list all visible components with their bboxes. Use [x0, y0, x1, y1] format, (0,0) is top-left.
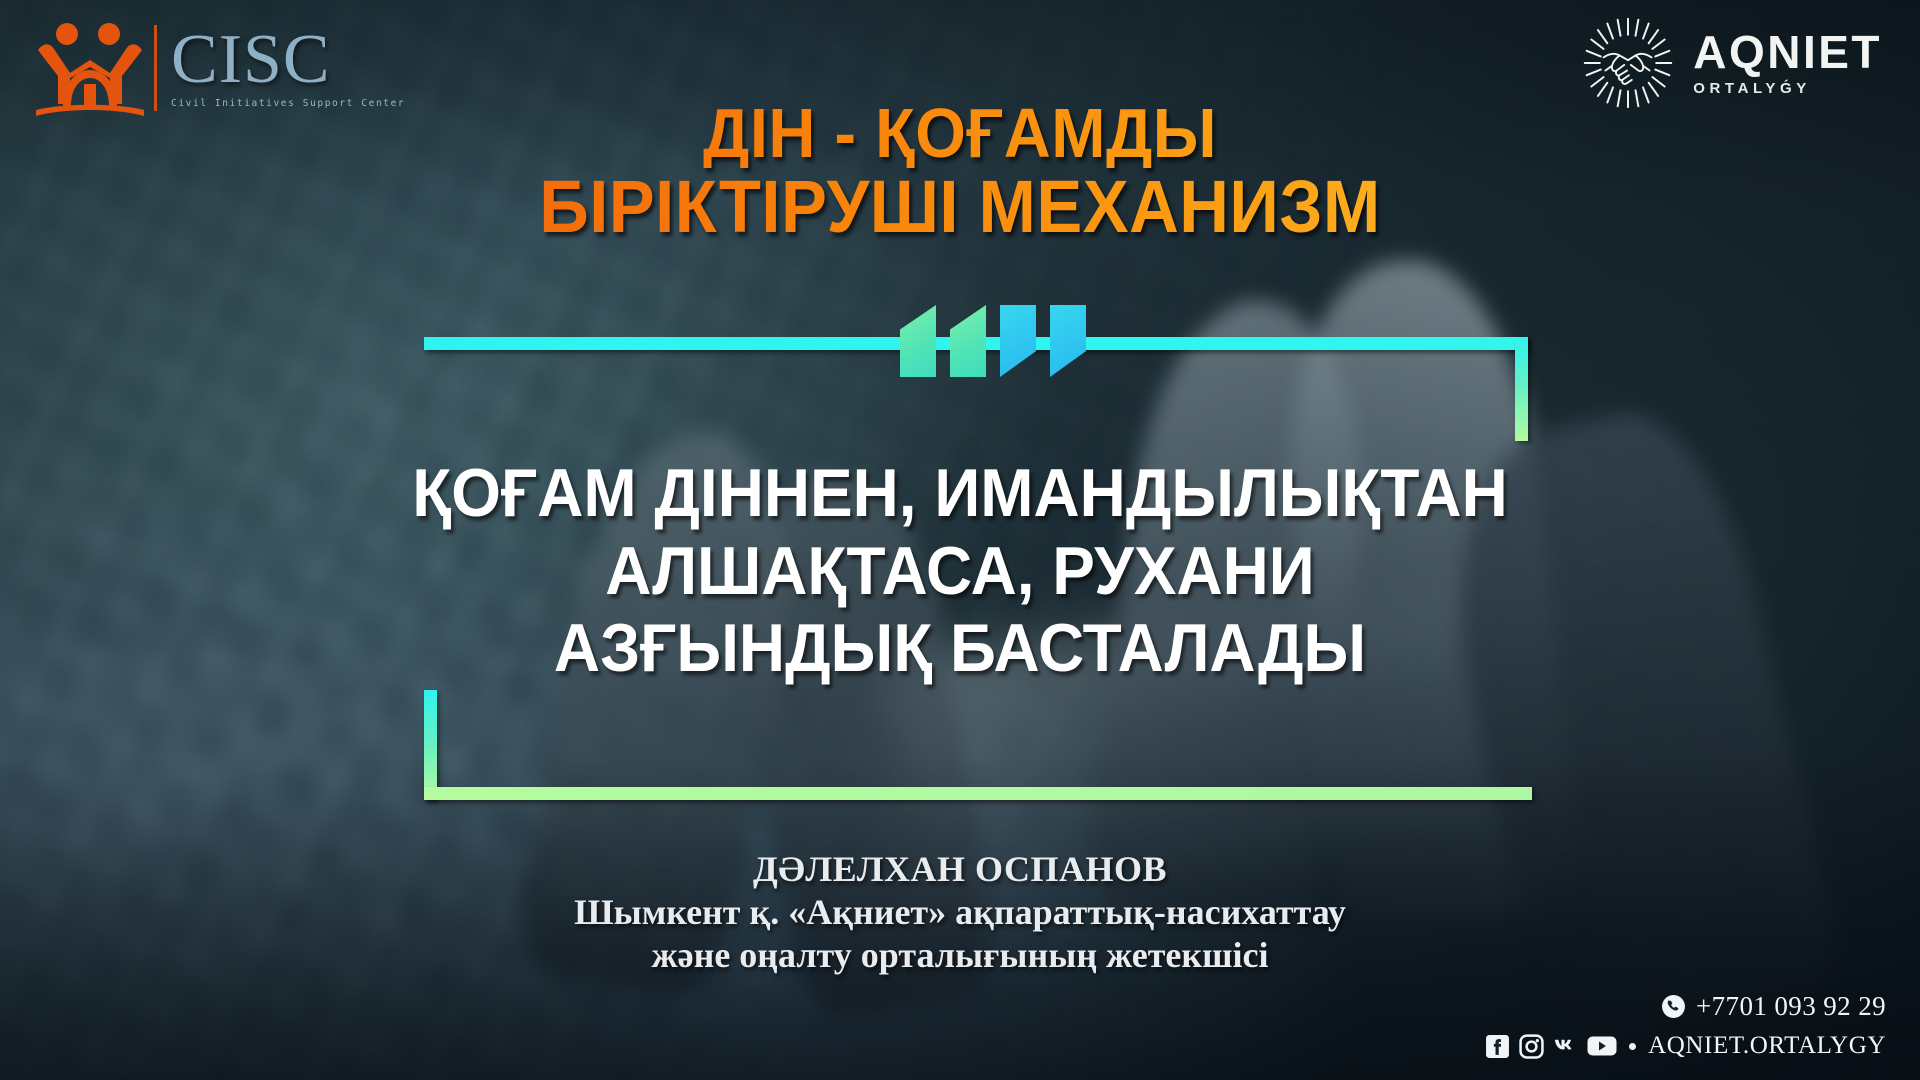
speaker-name: ДӘЛЕЛХАН ОСПАНОВ — [0, 848, 1920, 890]
bottom-bracket-horizontal — [424, 787, 1532, 800]
quote-line-1: ҚОҒАМ ДІННЕН, ИМАНДЫЛЫҚТАН — [58, 455, 1863, 533]
social-handle: AQNIET.ORTALYGY — [1648, 1032, 1886, 1060]
poster-canvas: CISC Civil Initiatives Support Center — [0, 0, 1920, 1080]
phone-icon — [1661, 994, 1686, 1019]
speaker-role-line-2: және оңалту орталығының жетекшісі — [0, 935, 1920, 976]
speaker-attribution: ДӘЛЕЛХАН ОСПАНОВ Шымкент қ. «Ақниет» ақп… — [0, 848, 1920, 975]
cisc-name: CISC — [171, 27, 405, 94]
bottom-bracket-vertical — [424, 690, 437, 800]
title-line-2: БІРІКТІРУШІ МЕХАНИЗМ — [67, 171, 1853, 243]
quote-line-3: АЗҒЫНДЫҚ БАСТАЛАДЫ — [58, 610, 1863, 688]
quote-close-icon — [1050, 305, 1086, 377]
phone-row[interactable]: +7701 093 92 29 — [1485, 991, 1886, 1022]
speaker-role-line-1: Шымкент қ. «Ақниет» ақпараттық-насихатта… — [0, 892, 1920, 933]
logo-divider — [154, 25, 157, 111]
bottom-bracket-decoration — [424, 690, 1532, 800]
quote-text: ҚОҒАМ ДІННЕН, ИМАНДЫЛЫҚТАН АЛШАҚТАСА, РУ… — [0, 455, 1920, 688]
contact-block: +7701 093 92 29 — [1485, 991, 1886, 1060]
facebook-icon[interactable] — [1485, 1034, 1510, 1059]
handshake-sunburst-icon — [1581, 16, 1675, 110]
social-row[interactable]: AQNIET.ORTALYGY — [1485, 1032, 1886, 1060]
aqniet-subtitle: ORTALYǴY — [1693, 80, 1882, 97]
poster-title: ДІН - ҚОҒАМДЫ БІРІКТІРУШІ МЕХАНИЗМ — [0, 100, 1920, 243]
phone-number: +7701 093 92 29 — [1696, 991, 1886, 1022]
vk-icon[interactable] — [1553, 1034, 1578, 1059]
aqniet-logo[interactable]: AQNIET ORTALYǴY — [1581, 16, 1882, 110]
top-bracket-vertical — [1515, 337, 1528, 441]
youtube-icon[interactable] — [1587, 1035, 1617, 1057]
aqniet-name: AQNIET — [1693, 29, 1882, 75]
quote-close-icon — [1000, 305, 1036, 377]
title-line-1: ДІН - ҚОҒАМДЫ — [67, 100, 1853, 168]
social-icons-group[interactable] — [1485, 1034, 1617, 1059]
separator-dot — [1629, 1043, 1636, 1050]
quote-line-2: АЛШАҚТАСА, РУХАНИ — [58, 533, 1863, 611]
quote-open-icon — [950, 305, 986, 377]
instagram-icon[interactable] — [1519, 1034, 1544, 1059]
quote-open-icon — [900, 305, 936, 377]
quote-marks-group — [900, 305, 1086, 377]
